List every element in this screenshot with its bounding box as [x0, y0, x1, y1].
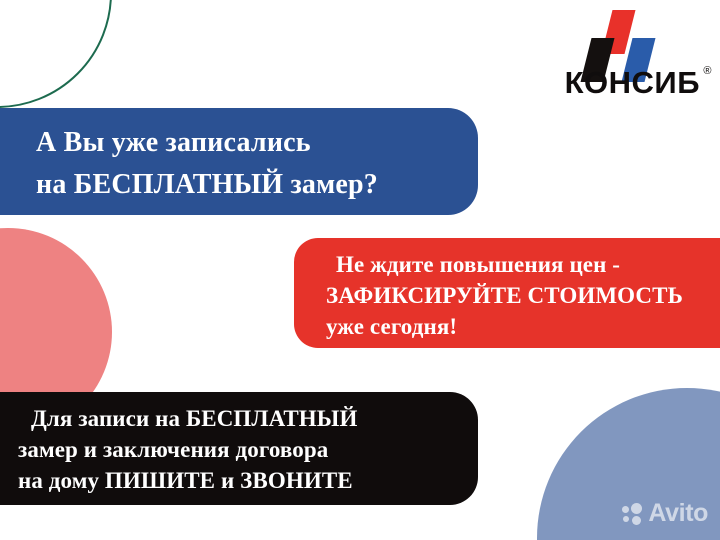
avito-wordmark: Avito	[648, 499, 708, 528]
headline-line-2: на БЕСПЛАТНЫЙ замер?	[36, 164, 478, 206]
offer-line-2: ЗАФИКСИРУЙТЕ СТОИМОСТЬ	[326, 280, 720, 311]
green-ring-decoration	[0, 0, 112, 108]
avito-watermark: Avito	[622, 499, 708, 528]
callout-line-1: Для записи на БЕСПЛАТНЫЙ	[18, 403, 478, 434]
callout-line-3: на дому ПИШИТЕ и ЗВОНИТЕ	[18, 465, 478, 496]
offer-line-3: уже сегодня!	[326, 311, 720, 342]
brand-wordmark-text: КОНСИБ	[565, 65, 700, 100]
callout-banner: Для записи на БЕСПЛАТНЫЙ замер и заключе…	[0, 392, 478, 505]
headline-banner: А Вы уже записались на БЕСПЛАТНЫЙ замер?	[0, 108, 478, 215]
logo-mark	[530, 8, 702, 66]
brand-wordmark: КОНСИБ ®	[530, 66, 702, 100]
callout-line-2: замер и заключения договора	[18, 434, 478, 465]
offer-line-1: Не ждите повышения цен -	[326, 249, 720, 280]
avito-dots-icon	[622, 503, 645, 525]
offer-banner: Не ждите повышения цен - ЗАФИКСИРУЙТЕ СТ…	[294, 238, 720, 348]
headline-line-1: А Вы уже записались	[36, 122, 478, 164]
poster-canvas: КОНСИБ ® А Вы уже записались на БЕСПЛАТН…	[0, 0, 720, 540]
brand-logo: КОНСИБ ®	[530, 8, 702, 104]
registered-trademark-icon: ®	[703, 54, 712, 88]
